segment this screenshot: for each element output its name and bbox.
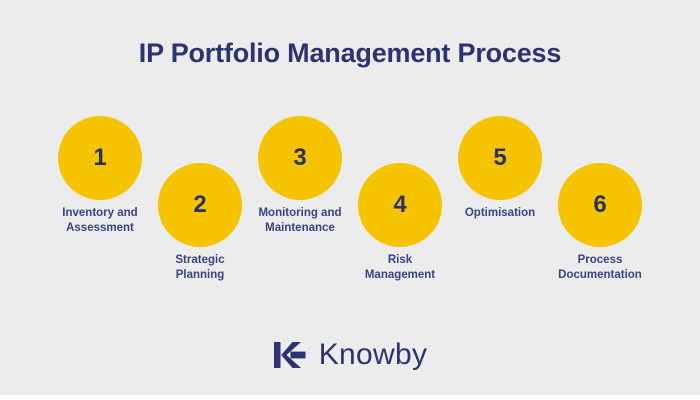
brand-lockup: Knowby bbox=[0, 338, 700, 372]
step-number-4: 4 bbox=[393, 193, 406, 217]
knowby-k-back-arrow-icon bbox=[273, 338, 307, 372]
step-number-1: 1 bbox=[93, 146, 106, 170]
step-number-3: 3 bbox=[293, 146, 306, 170]
process-step-6: 6 Process Documentation bbox=[520, 163, 680, 283]
step-label-2: Strategic Planning bbox=[120, 253, 280, 283]
step-label-6: Process Documentation bbox=[520, 253, 680, 283]
step-number-2: 2 bbox=[193, 193, 206, 217]
page-title: IP Portfolio Management Process bbox=[0, 38, 700, 69]
step-label-4: Risk Management bbox=[320, 253, 480, 283]
brand-name: Knowby bbox=[319, 340, 428, 370]
step-number-6: 6 bbox=[593, 193, 606, 217]
infographic-canvas: IP Portfolio Management Process 1 Invent… bbox=[0, 0, 700, 395]
step-circle-6: 6 bbox=[558, 163, 642, 247]
step-number-5: 5 bbox=[493, 146, 506, 170]
